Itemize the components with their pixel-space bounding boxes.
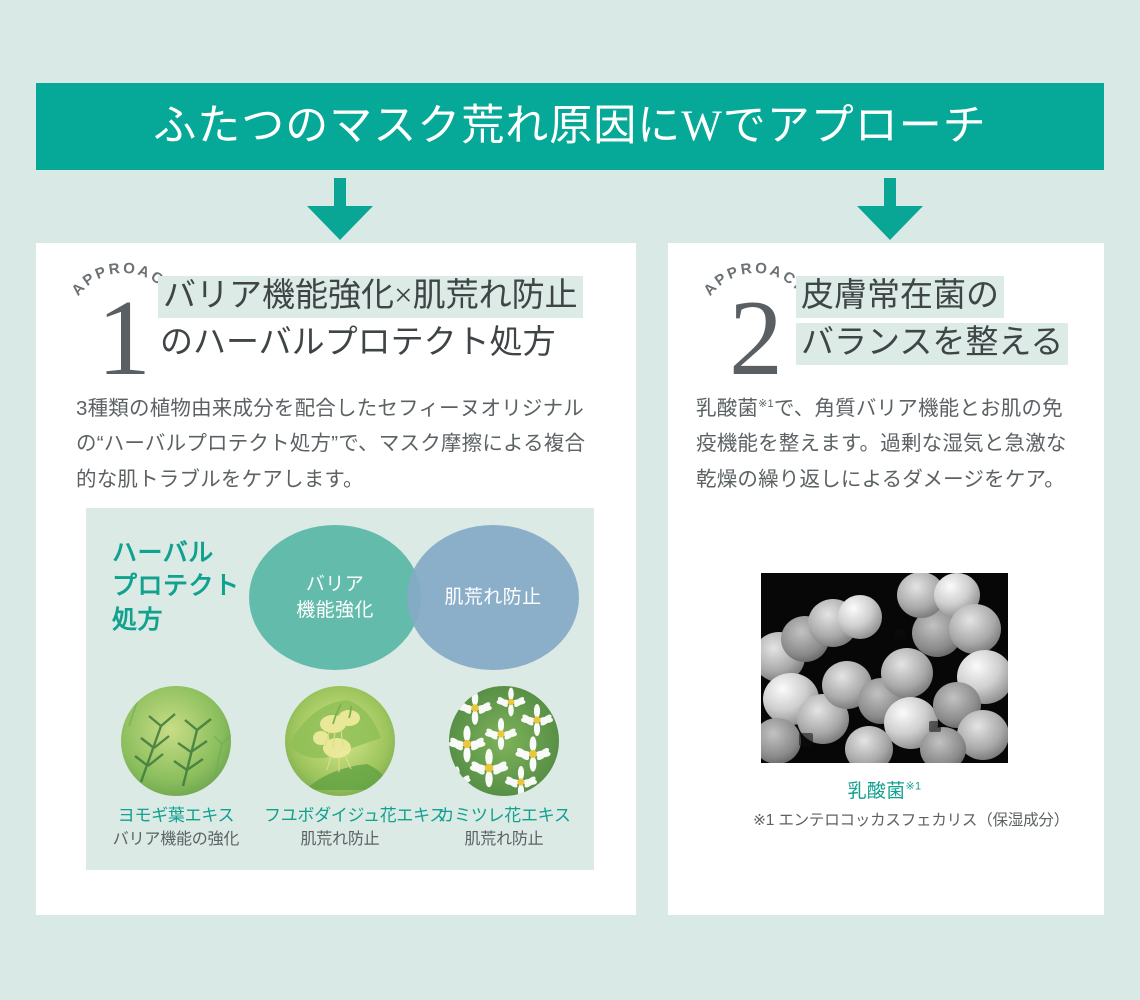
micrograph-caption: 乳酸菌※1 — [761, 776, 1008, 803]
approach-1-card: APPROACH 1 バリア機能強化×肌荒れ防止 のハーバルプロテクト処方 3種… — [36, 243, 636, 915]
infographic-page: ふたつのマスク荒れ原因にWでアプローチ APPROACH 1 バリア機能強化×肌… — [0, 0, 1140, 1000]
heading-line-1: 皮膚常在菌の — [796, 273, 1068, 320]
approach-1-body: 3種類の植物由来成分を配合したセフィーヌオリジナルの“ハーバルプロテクト処方”で… — [76, 391, 604, 497]
ingredient-name: ヨモギ葉エキス — [100, 805, 252, 826]
mugwort-leaves-photo — [121, 686, 231, 796]
formula-label-line1: ハーバル — [112, 539, 214, 567]
micrograph-block: 乳酸菌※1 ※1 エンテロコッカスフェカリス（保湿成分） — [761, 573, 1008, 830]
body-footnote-marker: ※1 — [758, 398, 774, 410]
heading-rest-1: のハーバルプロテクト処方 — [158, 323, 561, 365]
venn-circle-barrier: バリア 機能強化 — [249, 525, 421, 670]
header-banner: ふたつのマスク荒れ原因にWでアプローチ — [36, 83, 1104, 170]
heading-highlight-1: 皮膚常在菌の — [796, 276, 1004, 318]
chamomile-flower-photo — [449, 686, 559, 796]
arrow-head — [307, 206, 373, 240]
ingredient-name: カミツレ花エキス — [428, 805, 580, 826]
arrow-down-icon-left — [307, 178, 373, 240]
formula-label: ハーバル プロテクト 処方 — [112, 537, 240, 637]
heading-highlight-2: バランスを整える — [796, 323, 1068, 365]
venn-circle-antiroughness: 肌荒れ防止 — [407, 525, 579, 670]
ingredient-effect: バリア機能の強化 — [100, 829, 252, 851]
approach-2-card: APPROACH 2 皮膚常在菌の バランスを整える 乳酸菌※1で、角質バリア機… — [668, 243, 1104, 915]
formula-label-line2: プロテクト — [112, 572, 240, 600]
venn-right-label: 肌荒れ防止 — [444, 585, 541, 610]
ingredient-item: カミツレ花エキス 肌荒れ防止 — [428, 686, 580, 851]
micrograph-footnote-marker: ※1 — [905, 781, 921, 793]
ingredient-effect: 肌荒れ防止 — [428, 829, 580, 851]
page-title: ふたつのマスク荒れ原因にWでアプローチ — [153, 105, 987, 148]
ingredient-name: フユボダイジュ花エキス — [264, 805, 416, 826]
venn-left-line2: 機能強化 — [296, 600, 374, 621]
heading-line-1: バリア機能強化×肌荒れ防止 — [158, 273, 583, 320]
arrow-head — [857, 206, 923, 240]
ingredient-effect: 肌荒れ防止 — [264, 829, 416, 851]
heading-highlight-1: バリア機能強化×肌荒れ防止 — [158, 276, 583, 318]
approach-2-heading: 皮膚常在菌の バランスを整える — [796, 273, 1068, 367]
linden-flower-photo — [285, 686, 395, 796]
micrograph-caption-text: 乳酸菌 — [848, 781, 906, 802]
body-prefix: 乳酸菌 — [696, 397, 758, 420]
ingredient-list: ヨモギ葉エキス バリア機能の強化 — [100, 686, 580, 851]
lactic-acid-bacteria-micrograph — [761, 573, 1008, 763]
formula-label-line3: 処方 — [112, 606, 163, 634]
venn-diagram: バリア 機能強化 肌荒れ防止 — [249, 525, 579, 670]
arrow-down-icon-right — [857, 178, 923, 240]
approach-2-body: 乳酸菌※1で、角質バリア機能とお肌の免疫機能を整えます。過剰な湿気と急激な乾燥の… — [696, 391, 1076, 497]
micrograph-footnote: ※1 エンテロコッカスフェカリス（保湿成分） — [753, 808, 1000, 830]
heading-line-2: バランスを整える — [796, 320, 1068, 367]
ingredient-item: フユボダイジュ花エキス 肌荒れ防止 — [264, 686, 416, 851]
venn-left-line1: バリア — [306, 574, 364, 595]
approach-1-heading: バリア機能強化×肌荒れ防止 のハーバルプロテクト処方 — [158, 273, 583, 367]
ingredient-item: ヨモギ葉エキス バリア機能の強化 — [100, 686, 252, 851]
herbal-protect-panel: ハーバル プロテクト 処方 バリア 機能強化 肌荒れ防止 — [86, 508, 594, 870]
heading-line-2: のハーバルプロテクト処方 — [158, 320, 583, 367]
